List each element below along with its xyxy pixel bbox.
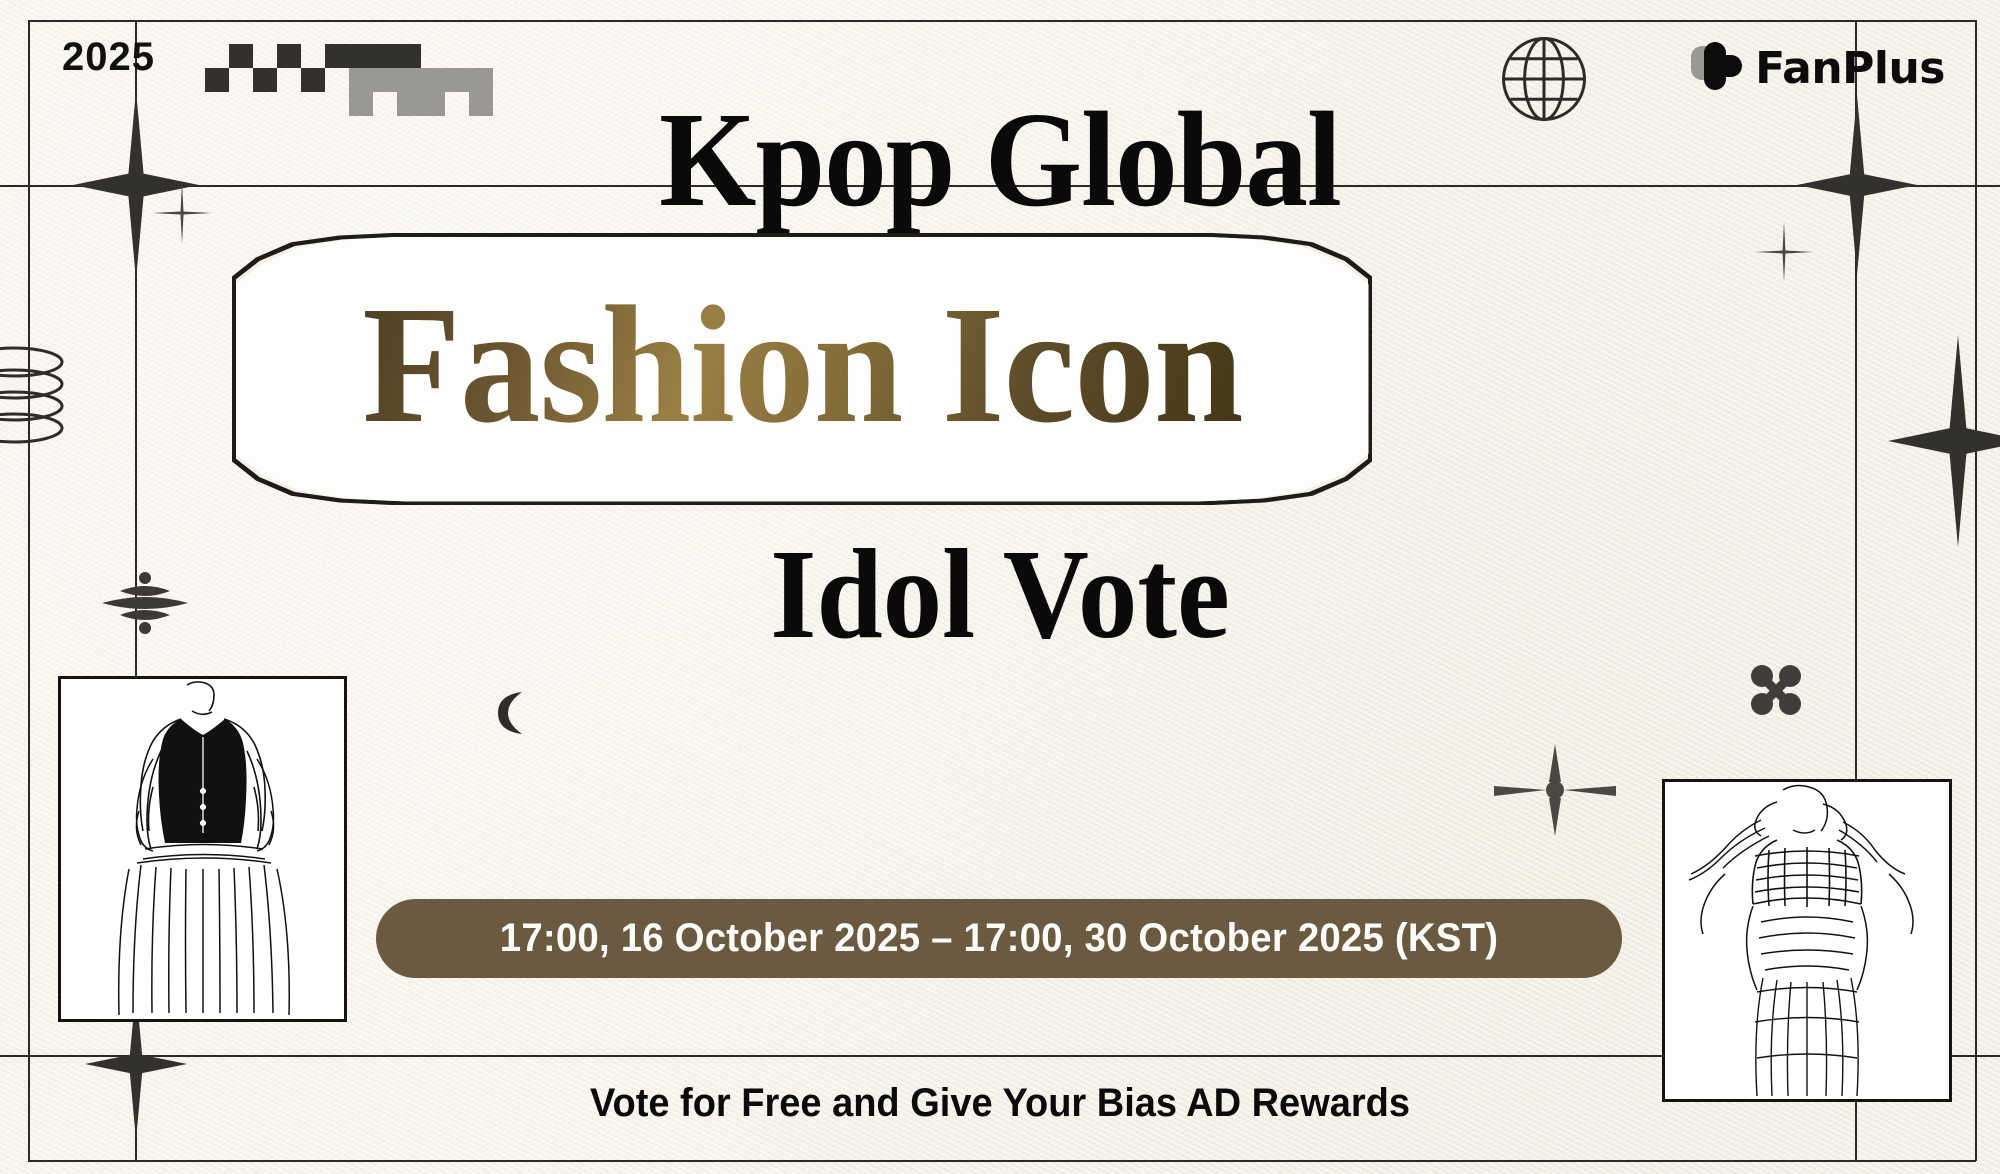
- sparkle-star-right-middle: [1888, 335, 2000, 547]
- leaf-divider-icon: [100, 572, 190, 634]
- compass-star-icon: [1490, 740, 1620, 840]
- crescent-moon-icon: [492, 690, 534, 736]
- fashion-sketch-left: [58, 676, 347, 1022]
- fanplus-plus-icon: [1691, 42, 1743, 94]
- fanplus-wordmark: FanPlus: [1755, 43, 1945, 94]
- fanplus-logo[interactable]: FanPlus: [1691, 42, 1945, 94]
- frame-line-left: [28, 20, 30, 1161]
- voting-period-text: 17:00, 16 October 2025 – 17:00, 30 Octob…: [500, 916, 1498, 961]
- poster-canvas: 2025 FanPlus Kpop: [0, 0, 2000, 1174]
- fashion-sketch-right-art: [1665, 782, 1949, 1099]
- voting-period-badge: 17:00, 16 October 2025 – 17:00, 30 Octob…: [376, 899, 1622, 978]
- frame-line-right: [1975, 20, 1977, 1161]
- frame-line-top: [28, 20, 1976, 22]
- sparkle-thin-right: [1755, 222, 1813, 282]
- fashion-icon-plaque: Fashion Icon: [232, 233, 1372, 505]
- fashion-sketch-left-art: [61, 679, 344, 1019]
- page-title-kpop-global: Kpop Global: [80, 92, 1920, 228]
- frame-line-bottom: [28, 1160, 1976, 1162]
- year-label: 2025: [62, 35, 155, 80]
- plaque-inner-panel: Fashion Icon: [236, 237, 1369, 502]
- plaque-title-text: Fashion Icon: [362, 281, 1242, 449]
- x-mark-icon: [1748, 662, 1804, 718]
- page-title-idol-vote: Idol Vote: [70, 530, 1930, 658]
- spiral-coil-icon: [0, 340, 82, 460]
- fashion-sketch-right: [1662, 779, 1952, 1102]
